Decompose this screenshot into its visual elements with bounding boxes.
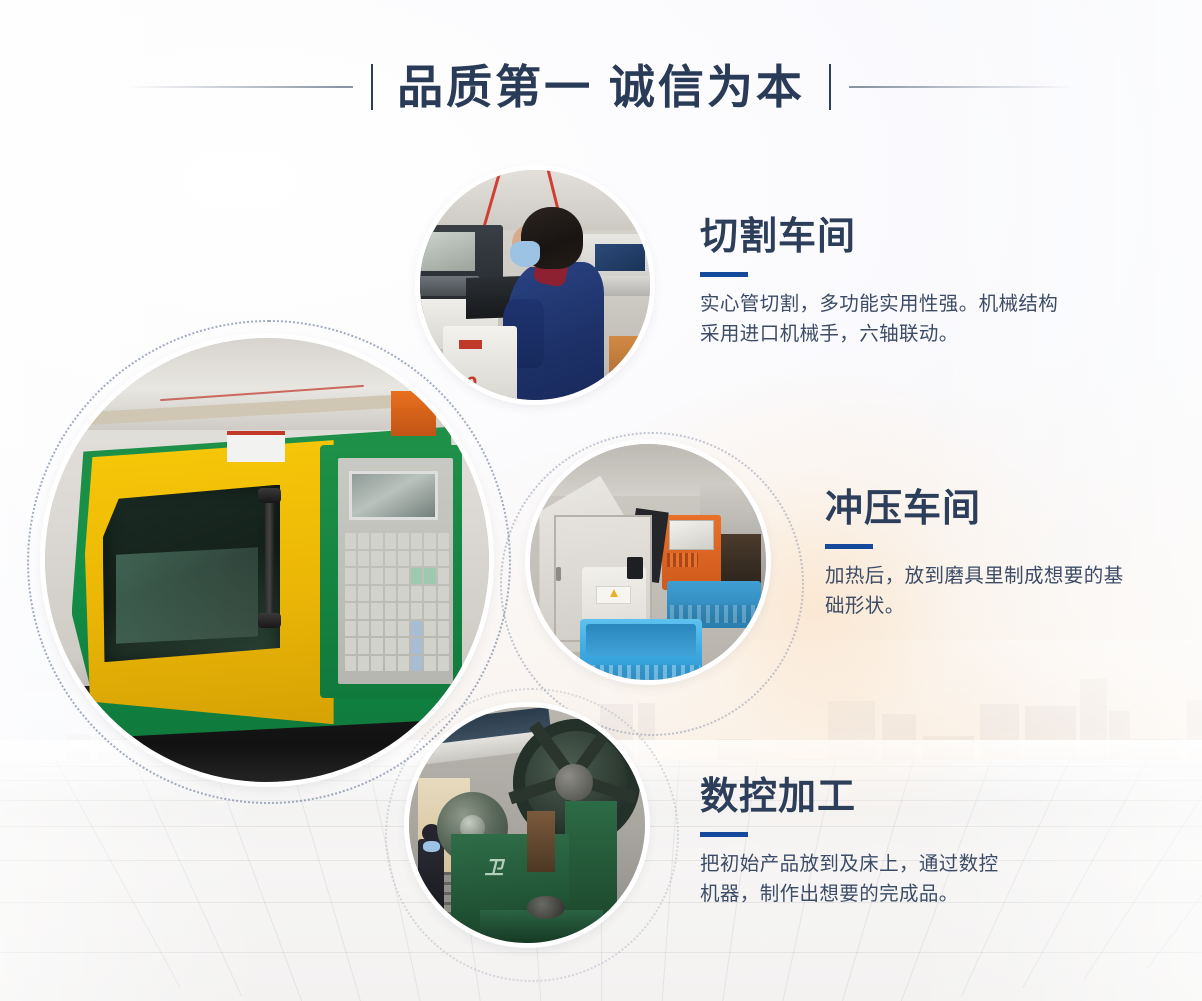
orange-cabinet-vent [667, 553, 698, 567]
orange-cabinet-screen [669, 520, 713, 550]
photo-cnc-content: 卫 [409, 707, 645, 943]
section-cnc-accent [700, 832, 748, 837]
press-die [527, 896, 565, 920]
blue-crate-front [580, 619, 703, 680]
section-cutting-description: 实心管切割，多功能实用性强。机械结构 采用进口机械手，六轴联动。 [700, 289, 1058, 349]
page-root: 品质第一 诚信为本 40 [0, 0, 1202, 1001]
tank-number: 40 [452, 372, 476, 398]
warning-sticker [227, 431, 285, 462]
header-rule-right [849, 86, 1074, 87]
header-tick-right [829, 64, 831, 110]
page-title: 品质第一 诚信为本 [391, 64, 811, 110]
section-stamping-title: 冲压车间 [825, 490, 1124, 530]
worker-face-mask [510, 241, 540, 266]
page-header: 品质第一 诚信为本 [0, 52, 1202, 122]
section-stamping-description: 加热后，放到磨具里制成想要的基 础形状。 [825, 561, 1124, 621]
cabinet-door-handle [556, 567, 561, 581]
section-cnc-title: 数控加工 [700, 778, 999, 818]
machine-door-handle [265, 498, 274, 618]
section-cutting-title: 切割车间 [700, 218, 1058, 258]
photo-stamping-workshop [530, 444, 766, 680]
lathe-screen [420, 232, 475, 271]
press-ram [527, 811, 555, 872]
section-cnc: 数控加工 把初始产品放到及床上，通过数控 机器，制作出想要的完成品。 [700, 778, 999, 909]
press-brand-logo: 卫 [485, 853, 504, 880]
control-panel-keypad [345, 533, 449, 671]
photo-cnc-machining: 卫 [409, 707, 645, 943]
header-tick-left [371, 64, 373, 110]
section-stamping: 冲压车间 加热后，放到磨具里制成想要的基 础形状。 [825, 490, 1124, 621]
flywheel-hub [555, 764, 593, 802]
photo-stamping-content [530, 444, 766, 680]
control-panel-screen [349, 471, 438, 520]
worker-figure [418, 839, 444, 910]
hazard-warning-label [596, 586, 631, 605]
cnc-screen-right [595, 244, 646, 272]
cabinet-black-module [627, 557, 644, 578]
section-cnc-description: 把初始产品放到及床上，通过数控 机器，制作出想要的完成品。 [700, 849, 999, 909]
orange-machine-right [609, 336, 650, 387]
photo-cutting-workshop: 40 [420, 170, 650, 400]
photo-cutting-content: 40 [420, 170, 650, 400]
section-cutting-accent [700, 272, 748, 277]
tank-label [459, 340, 482, 349]
glass-reflection [116, 547, 258, 643]
section-cutting: 切割车间 实心管切割，多功能实用性强。机械结构 采用进口机械手，六轴联动。 [700, 218, 1058, 349]
header-rule-left [128, 86, 353, 87]
section-stamping-accent [825, 544, 873, 549]
